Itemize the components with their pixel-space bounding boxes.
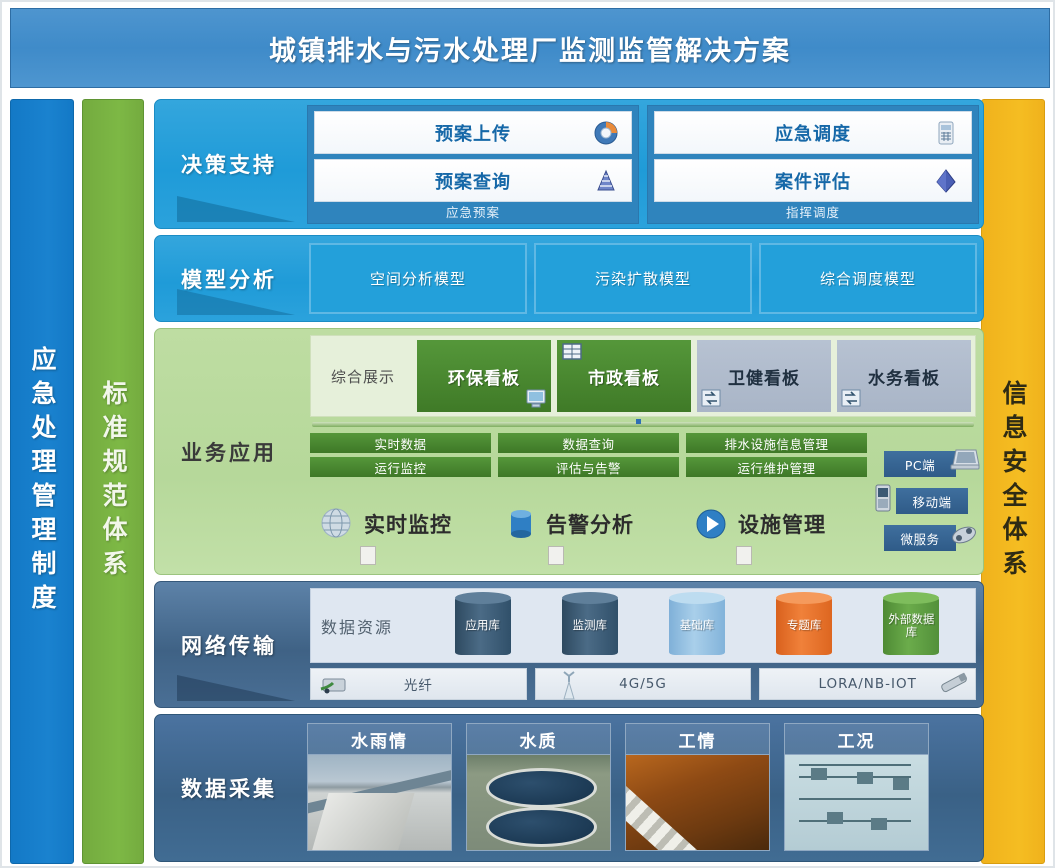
business-bar[interactable]: 排水设施信息管理: [686, 433, 867, 453]
client-label: 微服务: [900, 529, 939, 548]
sensor-icon: [937, 671, 971, 697]
item-label: 应急调度: [775, 120, 851, 146]
business-feature-realtime-monitoring[interactable]: 实时监控: [310, 481, 491, 567]
client-pc[interactable]: PC端: [884, 451, 956, 477]
database-external[interactable]: 外部数据库: [883, 597, 939, 655]
section-divider: [312, 422, 974, 427]
client-endpoints: PC端 移动端: [874, 433, 976, 567]
decision-item-case-assessment[interactable]: 案件评估: [654, 159, 972, 202]
model-item-integrated-dispatch[interactable]: 综合调度模型: [759, 243, 977, 314]
transmission-fiber[interactable]: 光纤: [310, 668, 527, 700]
business-feature-facility-management[interactable]: 设施管理: [686, 481, 867, 567]
acquisition-card-works[interactable]: 工情: [625, 723, 770, 851]
db-label: 基础库: [678, 619, 717, 632]
database-basic[interactable]: 基础库: [669, 597, 725, 655]
decision-group-caption: 应急预案: [314, 202, 632, 221]
layer-network-transmission: 网络传输 数据资源 应用库 监测库: [154, 581, 984, 708]
card-label: 工况: [784, 723, 929, 755]
layer-label-decision: 决策支持: [155, 100, 303, 228]
page-title: 城镇排水与污水处理厂监测监管解决方案: [269, 29, 791, 68]
database-icon: [504, 504, 538, 544]
card-label: 卫健看板: [728, 364, 800, 389]
layer-business-application: 业务应用 综合展示 环保看板: [154, 328, 984, 575]
item-label: 污染扩散模型: [595, 268, 691, 289]
dashboard-card-environment[interactable]: 环保看板: [417, 340, 551, 412]
feature-label: 设施管理: [738, 509, 826, 539]
business-bar[interactable]: 数据查询: [498, 433, 679, 453]
transmission-label: 4G/5G: [619, 676, 667, 692]
dashboard-row: 综合展示 环保看板 市政看板: [310, 335, 976, 417]
pillar-emergency-management: 应急处理管理制度: [10, 99, 74, 864]
item-label: 预案查询: [435, 168, 511, 194]
data-resource-row: 数据资源 应用库 监测库 基础库: [310, 588, 976, 663]
card-label: 市政看板: [588, 364, 660, 389]
play-icon: [692, 505, 730, 543]
business-bar[interactable]: 运行维护管理: [686, 457, 867, 477]
layer-stack: 决策支持 预案上传: [154, 99, 984, 862]
transfer-icon: [701, 389, 723, 409]
document-icon: [360, 546, 376, 565]
window-icon: [561, 342, 583, 362]
laptop-icon: [950, 447, 980, 473]
item-label: 综合调度模型: [820, 268, 916, 289]
dashboard-title: 综合展示: [315, 340, 411, 412]
model-item-pollution-diffusion[interactable]: 污染扩散模型: [534, 243, 752, 314]
item-label: 预案上传: [435, 120, 511, 146]
acquisition-card-conditions[interactable]: 工况: [784, 723, 929, 851]
layer-decision-support: 决策支持 预案上传: [154, 99, 984, 229]
feature-label: 告警分析: [546, 509, 634, 539]
client-mobile[interactable]: 移动端: [896, 488, 968, 514]
acquisition-card-rainfall[interactable]: 水雨情: [307, 723, 452, 851]
business-bar[interactable]: 实时数据: [310, 433, 491, 453]
globe-icon: [316, 504, 356, 544]
pipeline-trench-photo: [625, 755, 770, 851]
pyramid-icon: [593, 168, 619, 194]
model-item-spatial[interactable]: 空间分析模型: [309, 243, 527, 314]
treatment-pools-photo: [466, 755, 611, 851]
business-column-realtime: 实时数据 运行监控 实时监控: [310, 433, 491, 567]
decision-item-plan-query[interactable]: 预案查询: [314, 159, 632, 202]
monitor-icon: [525, 389, 547, 409]
layer-label-acquisition: 数据采集: [155, 715, 303, 861]
business-column-alarm: 数据查询 评估与告警 告警分析: [498, 433, 679, 567]
db-label: 监测库: [571, 619, 610, 632]
pillar-label: 信息安全体系: [995, 380, 1031, 584]
decision-item-emergency-dispatch[interactable]: 应急调度: [654, 111, 972, 154]
dashboard-card-municipal[interactable]: 市政看板: [557, 340, 691, 412]
calculator-icon: [933, 120, 959, 146]
river-channel-photo: [307, 755, 452, 851]
business-bar[interactable]: 评估与告警: [498, 457, 679, 477]
mobile-icon: [872, 483, 894, 513]
business-column-facility: 排水设施信息管理 运行维护管理 设施管理: [686, 433, 867, 567]
scada-schematic-photo: [784, 755, 929, 851]
transfer-icon: [841, 389, 863, 409]
pillar-label: 应急处理管理制度: [24, 346, 60, 618]
fiber-icon: [319, 673, 351, 697]
database-thematic[interactable]: 专题库: [776, 597, 832, 655]
database-monitoring[interactable]: 监测库: [562, 597, 618, 655]
dashboard-card-health[interactable]: 卫健看板: [697, 340, 831, 412]
transmission-4g5g[interactable]: 4G/5G: [535, 668, 752, 700]
card-label: 工情: [625, 723, 770, 755]
dashboard-card-water[interactable]: 水务看板: [837, 340, 971, 412]
client-label: 移动端: [912, 492, 951, 511]
business-bar[interactable]: 运行监控: [310, 457, 491, 477]
decision-item-plan-upload[interactable]: 预案上传: [314, 111, 632, 154]
page-title-bar: 城镇排水与污水处理厂监测监管解决方案: [10, 8, 1050, 88]
card-label: 水质: [466, 723, 611, 755]
layer-label-business: 业务应用: [155, 329, 303, 574]
item-label: 案件评估: [775, 168, 851, 194]
db-label: 外部数据库: [883, 613, 939, 639]
decision-group-caption: 指挥调度: [654, 202, 972, 221]
item-label: 空间分析模型: [370, 268, 466, 289]
decision-group-command-dispatch: 应急调度 案件评估: [647, 105, 979, 224]
card-label: 水务看板: [868, 364, 940, 389]
pillar-label: 标准规范体系: [95, 380, 131, 584]
pillar-standard-system: 标准规范体系: [82, 99, 144, 864]
device-icon: [950, 521, 978, 547]
lifebuoy-icon: [593, 120, 619, 146]
client-microservice[interactable]: 微服务: [884, 525, 956, 551]
diamond-icon: [933, 168, 959, 194]
transmission-label: 光纤: [404, 674, 433, 694]
layer-model-analysis: 模型分析 空间分析模型 污染扩散模型 综合调度模型: [154, 235, 984, 322]
document-icon: [736, 546, 752, 565]
antenna-icon: [558, 670, 580, 700]
transmission-label: LORA/NB-IOT: [818, 676, 916, 692]
layer-label-network: 网络传输: [155, 582, 303, 707]
db-label: 专题库: [785, 619, 824, 632]
decision-group-emergency-plan: 预案上传 预案查询: [307, 105, 639, 224]
client-label: PC端: [905, 455, 935, 474]
transmission-lora-nbiot[interactable]: LORA/NB-IOT: [759, 668, 976, 700]
layer-data-acquisition: 数据采集 水雨情 水质 工情 工: [154, 714, 984, 862]
document-icon: [548, 546, 564, 565]
transmission-row: 光纤 4G/5G LORA/NB-IOT: [310, 668, 976, 700]
data-resource-title: 数据资源: [321, 614, 421, 638]
business-feature-alarm-analysis[interactable]: 告警分析: [498, 481, 679, 567]
feature-label: 实时监控: [364, 509, 452, 539]
layer-label-model: 模型分析: [155, 236, 303, 321]
diagram-canvas: 城镇排水与污水处理厂监测监管解决方案 应急处理管理制度 标准规范体系 信息安全体…: [0, 0, 1055, 868]
card-label: 环保看板: [448, 364, 520, 389]
database-application[interactable]: 应用库: [455, 597, 511, 655]
card-label: 水雨情: [307, 723, 452, 755]
pillar-information-security: 信息安全体系: [981, 99, 1045, 864]
acquisition-card-water-quality[interactable]: 水质: [466, 723, 611, 851]
db-label: 应用库: [463, 619, 502, 632]
